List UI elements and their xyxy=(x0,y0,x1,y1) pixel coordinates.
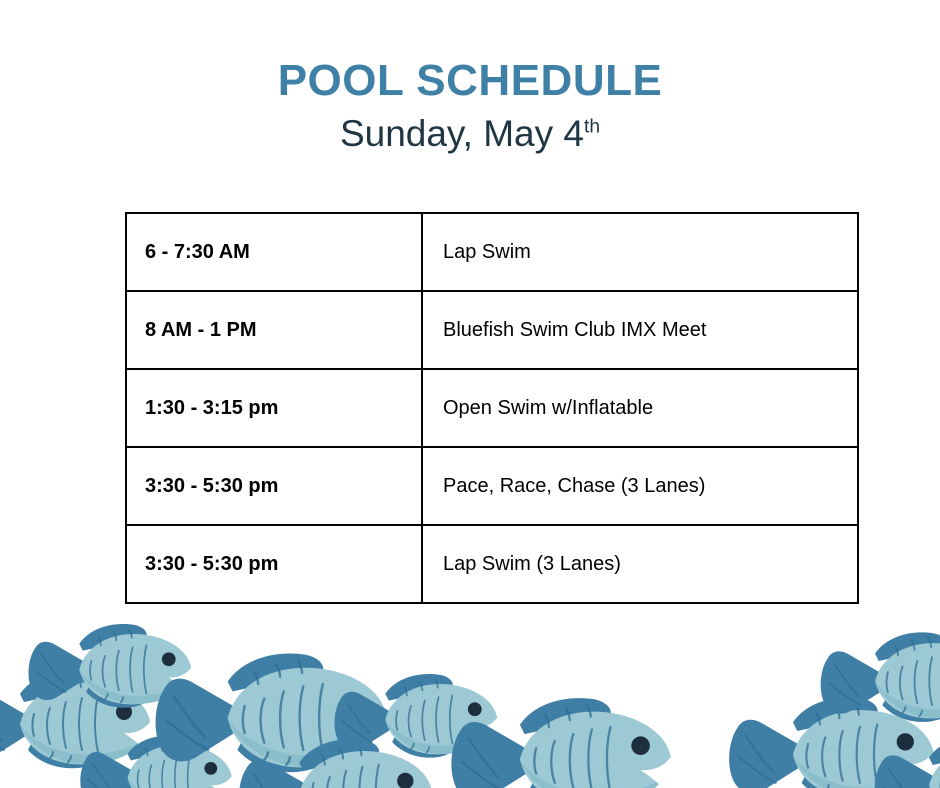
table-row: 1:30 - 3:15 pm Open Swim w/Inflatable xyxy=(126,369,858,447)
header: POOL SCHEDULE Sunday, May 4th xyxy=(0,0,940,154)
schedule-activity-cell: Lap Swim (3 Lanes) xyxy=(422,525,858,603)
fish-icon xyxy=(26,618,198,721)
schedule-time-cell: 6 - 7:30 AM xyxy=(126,213,422,291)
schedule-table: 6 - 7:30 AM Lap Swim 8 AM - 1 PM Bluefis… xyxy=(125,212,859,604)
schedule-time-cell: 1:30 - 3:15 pm xyxy=(126,369,422,447)
fish-icon xyxy=(726,690,940,788)
table-row: 3:30 - 5:30 pm Pace, Race, Chase (3 Lane… xyxy=(126,447,858,525)
fish-icon xyxy=(872,730,940,788)
fish-icon xyxy=(448,690,680,788)
fish-icon xyxy=(236,732,440,788)
page-subtitle-ordinal: th xyxy=(584,117,600,138)
fish-icon xyxy=(152,645,396,788)
fish-icon xyxy=(332,668,504,771)
page-subtitle-date: Sunday, May 4 xyxy=(340,113,584,154)
page-subtitle: Sunday, May 4th xyxy=(0,104,940,154)
fish-icon xyxy=(818,626,940,736)
schedule-time-cell: 3:30 - 5:30 pm xyxy=(126,447,422,525)
page-title: POOL SCHEDULE xyxy=(0,58,940,104)
schedule-time-cell: 8 AM - 1 PM xyxy=(126,291,422,369)
schedule-table-body: 6 - 7:30 AM Lap Swim 8 AM - 1 PM Bluefis… xyxy=(126,213,858,603)
schedule-activity-cell: Bluefish Swim Club IMX Meet xyxy=(422,291,858,369)
table-row: 8 AM - 1 PM Bluefish Swim Club IMX Meet xyxy=(126,291,858,369)
fish-icon xyxy=(78,730,238,788)
fish-school-decoration xyxy=(0,612,940,788)
schedule-activity-cell: Pace, Race, Chase (3 Lanes) xyxy=(422,447,858,525)
fish-icon xyxy=(0,664,158,784)
table-row: 3:30 - 5:30 pm Lap Swim (3 Lanes) xyxy=(126,525,858,603)
table-row: 6 - 7:30 AM Lap Swim xyxy=(126,213,858,291)
schedule-time-cell: 3:30 - 5:30 pm xyxy=(126,525,422,603)
schedule-activity-cell: Open Swim w/Inflatable xyxy=(422,369,858,447)
schedule-activity-cell: Lap Swim xyxy=(422,213,858,291)
